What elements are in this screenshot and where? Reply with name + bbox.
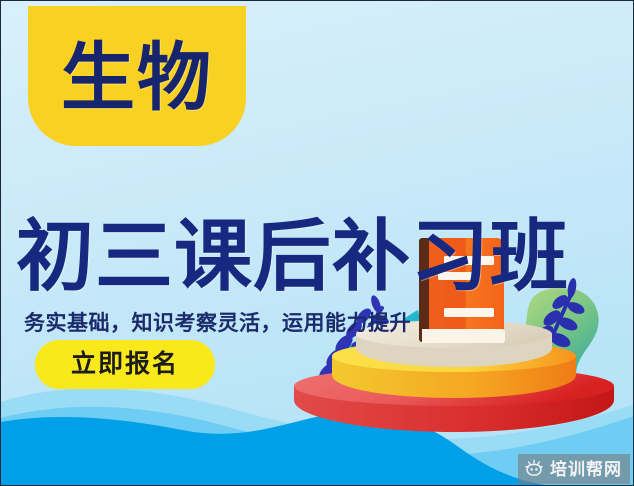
enroll-now-button[interactable]: 立即报名 xyxy=(35,340,215,389)
poster-subtitle: 务实基础，知识考察灵活，运用能力提升 xyxy=(24,307,411,337)
poster-headline: 初三课后补习班 xyxy=(16,217,622,295)
site-watermark: 培训帮网 xyxy=(518,454,630,484)
course-promo-poster: 生物 初三课后补习班 务实基础，知识考察灵活，运用能力提升 立即报名 培训帮网 xyxy=(0,0,634,486)
sun-face-icon xyxy=(524,459,544,479)
book-pages xyxy=(422,329,505,343)
book-label-bottom xyxy=(444,308,494,317)
watermark-label: 培训帮网 xyxy=(550,461,622,478)
enroll-now-label: 立即报名 xyxy=(71,352,179,377)
subject-badge-label: 生物 xyxy=(61,41,213,115)
subject-badge: 生物 xyxy=(28,6,246,146)
